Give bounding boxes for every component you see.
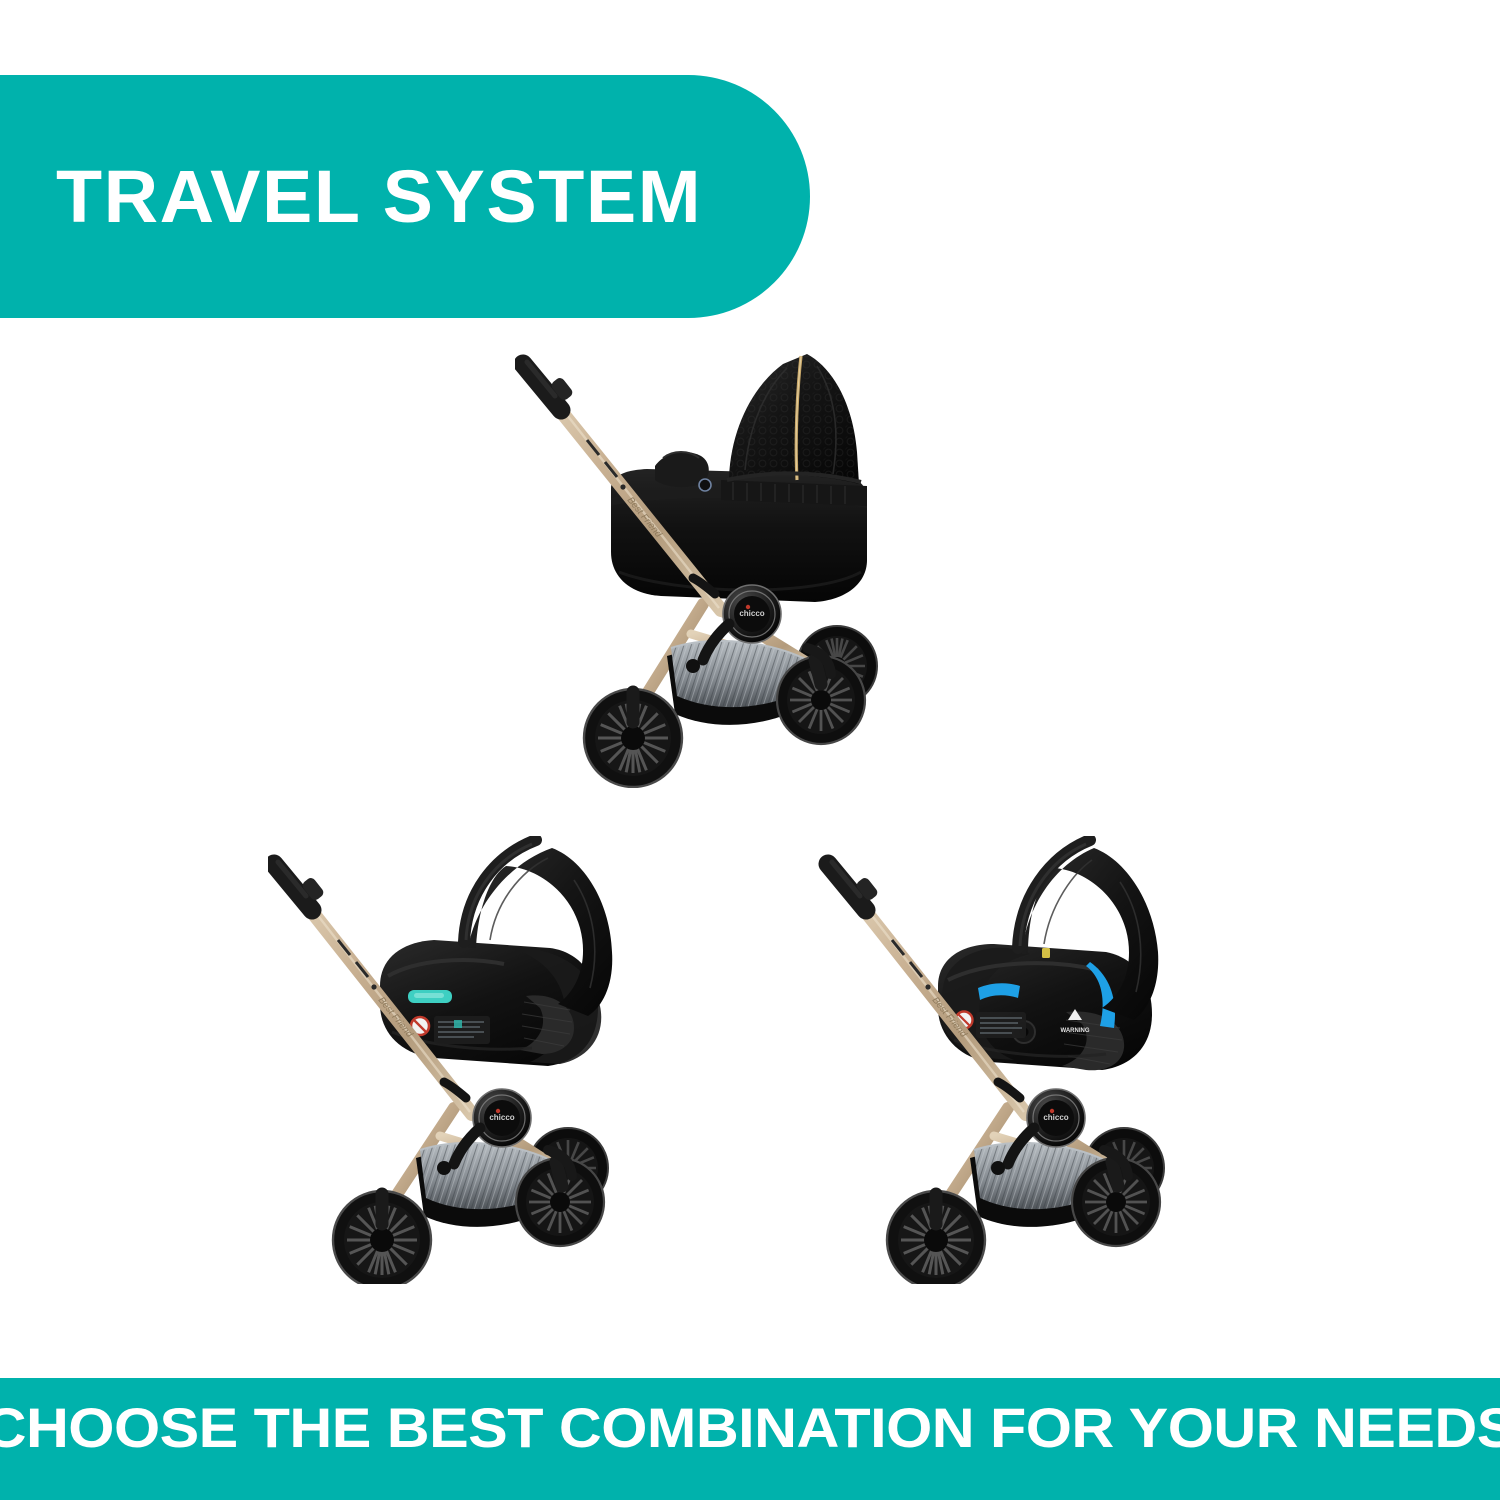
bassinet-body bbox=[611, 469, 867, 602]
bassinet-canopy bbox=[727, 354, 861, 484]
svg-text:WARNING: WARNING bbox=[1061, 1028, 1090, 1034]
product-image-carseat-forward-facing-configuration: WARNING bbox=[818, 836, 1218, 1284]
product-image-carseat-rear-facing-configuration: Best Friend chicco bbox=[268, 836, 668, 1284]
bottom-banner-text: CHOOSE THE BEST COMBINATION FOR YOUR NEE… bbox=[0, 1400, 1500, 1456]
product-image-bassinet-configuration: Best Friend chicco bbox=[515, 348, 915, 788]
top-banner-title: TRAVEL SYSTEM bbox=[56, 160, 702, 234]
handle-grip bbox=[523, 362, 574, 410]
canopy-small-sticker bbox=[1042, 948, 1050, 958]
svg-text:chicco: chicco bbox=[739, 609, 764, 618]
bottom-banner: CHOOSE THE BEST COMBINATION FOR YOUR NEE… bbox=[0, 1378, 1500, 1500]
hub-badge-chicco: chicco bbox=[473, 1089, 531, 1147]
bassinet-snap-button bbox=[699, 479, 711, 491]
top-banner: TRAVEL SYSTEM bbox=[0, 75, 810, 318]
handle-grip bbox=[828, 862, 879, 910]
hub-badge-chicco: chicco bbox=[1027, 1089, 1085, 1147]
marketing-image-stage: TRAVEL SYSTEM bbox=[0, 0, 1500, 1500]
handle-grip bbox=[274, 862, 325, 910]
hub-badge-chicco: chicco bbox=[723, 585, 781, 643]
svg-text:chicco: chicco bbox=[1043, 1113, 1068, 1122]
svg-text:chicco: chicco bbox=[489, 1113, 514, 1122]
